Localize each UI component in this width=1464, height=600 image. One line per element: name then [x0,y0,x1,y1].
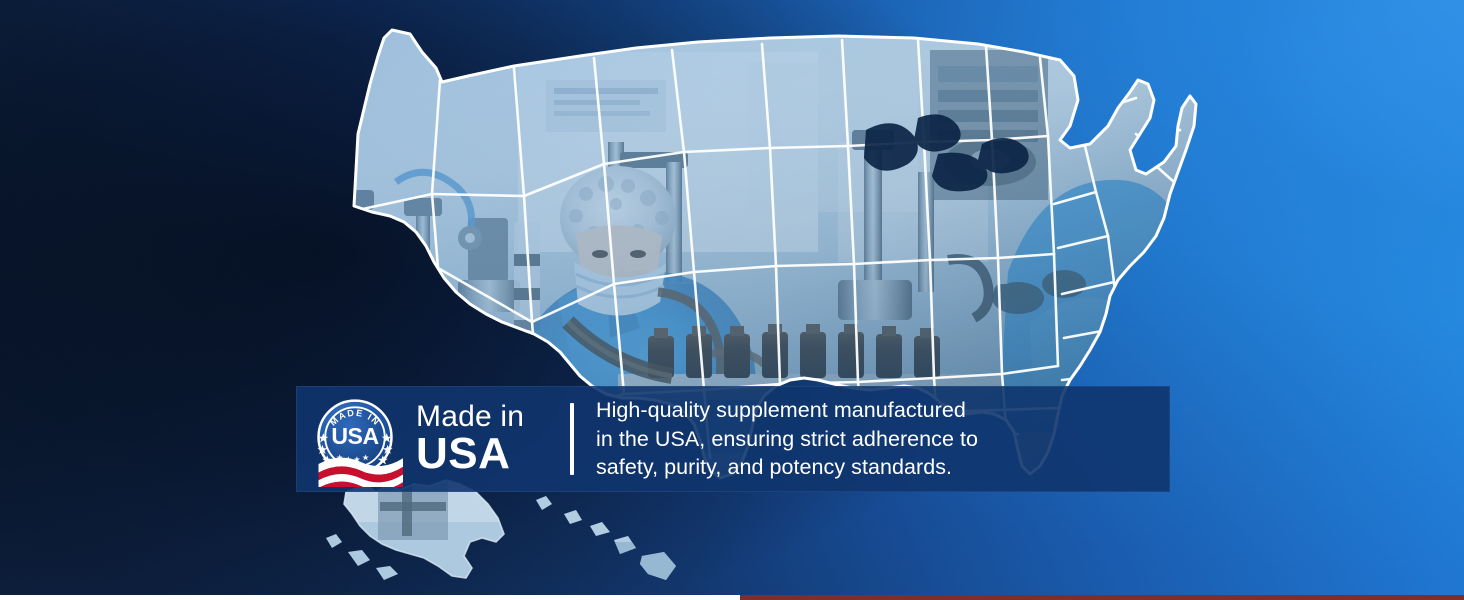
copy-line-1: High-quality supplement manufactured [596,396,978,425]
made-in-usa-seal-icon: MADE IN [307,391,403,487]
made-in-usa-hero-banner: MADE IN [0,0,1464,600]
heading-line-1: Made in [416,402,564,433]
badge-slot: MADE IN [296,391,414,487]
heading-line-2: USA [416,432,564,476]
badge-center-text: USA [331,423,379,449]
made-in-usa-heading: Made in USA [414,402,564,477]
vertical-divider [570,403,574,475]
bottom-rule-left [0,595,740,600]
made-in-usa-banner: MADE IN [296,386,1170,492]
copy-line-2: in the USA, ensuring strict adherence to [596,425,978,454]
badge-ribbon [319,458,403,487]
map-svg [318,22,1198,582]
bottom-rule [0,595,1464,600]
banner-copy: High-quality supplement manufactured in … [596,396,978,482]
copy-line-3: safety, purity, and potency standards. [596,453,978,482]
united-states-map [318,22,1198,582]
bottom-rule-right [740,595,1464,600]
